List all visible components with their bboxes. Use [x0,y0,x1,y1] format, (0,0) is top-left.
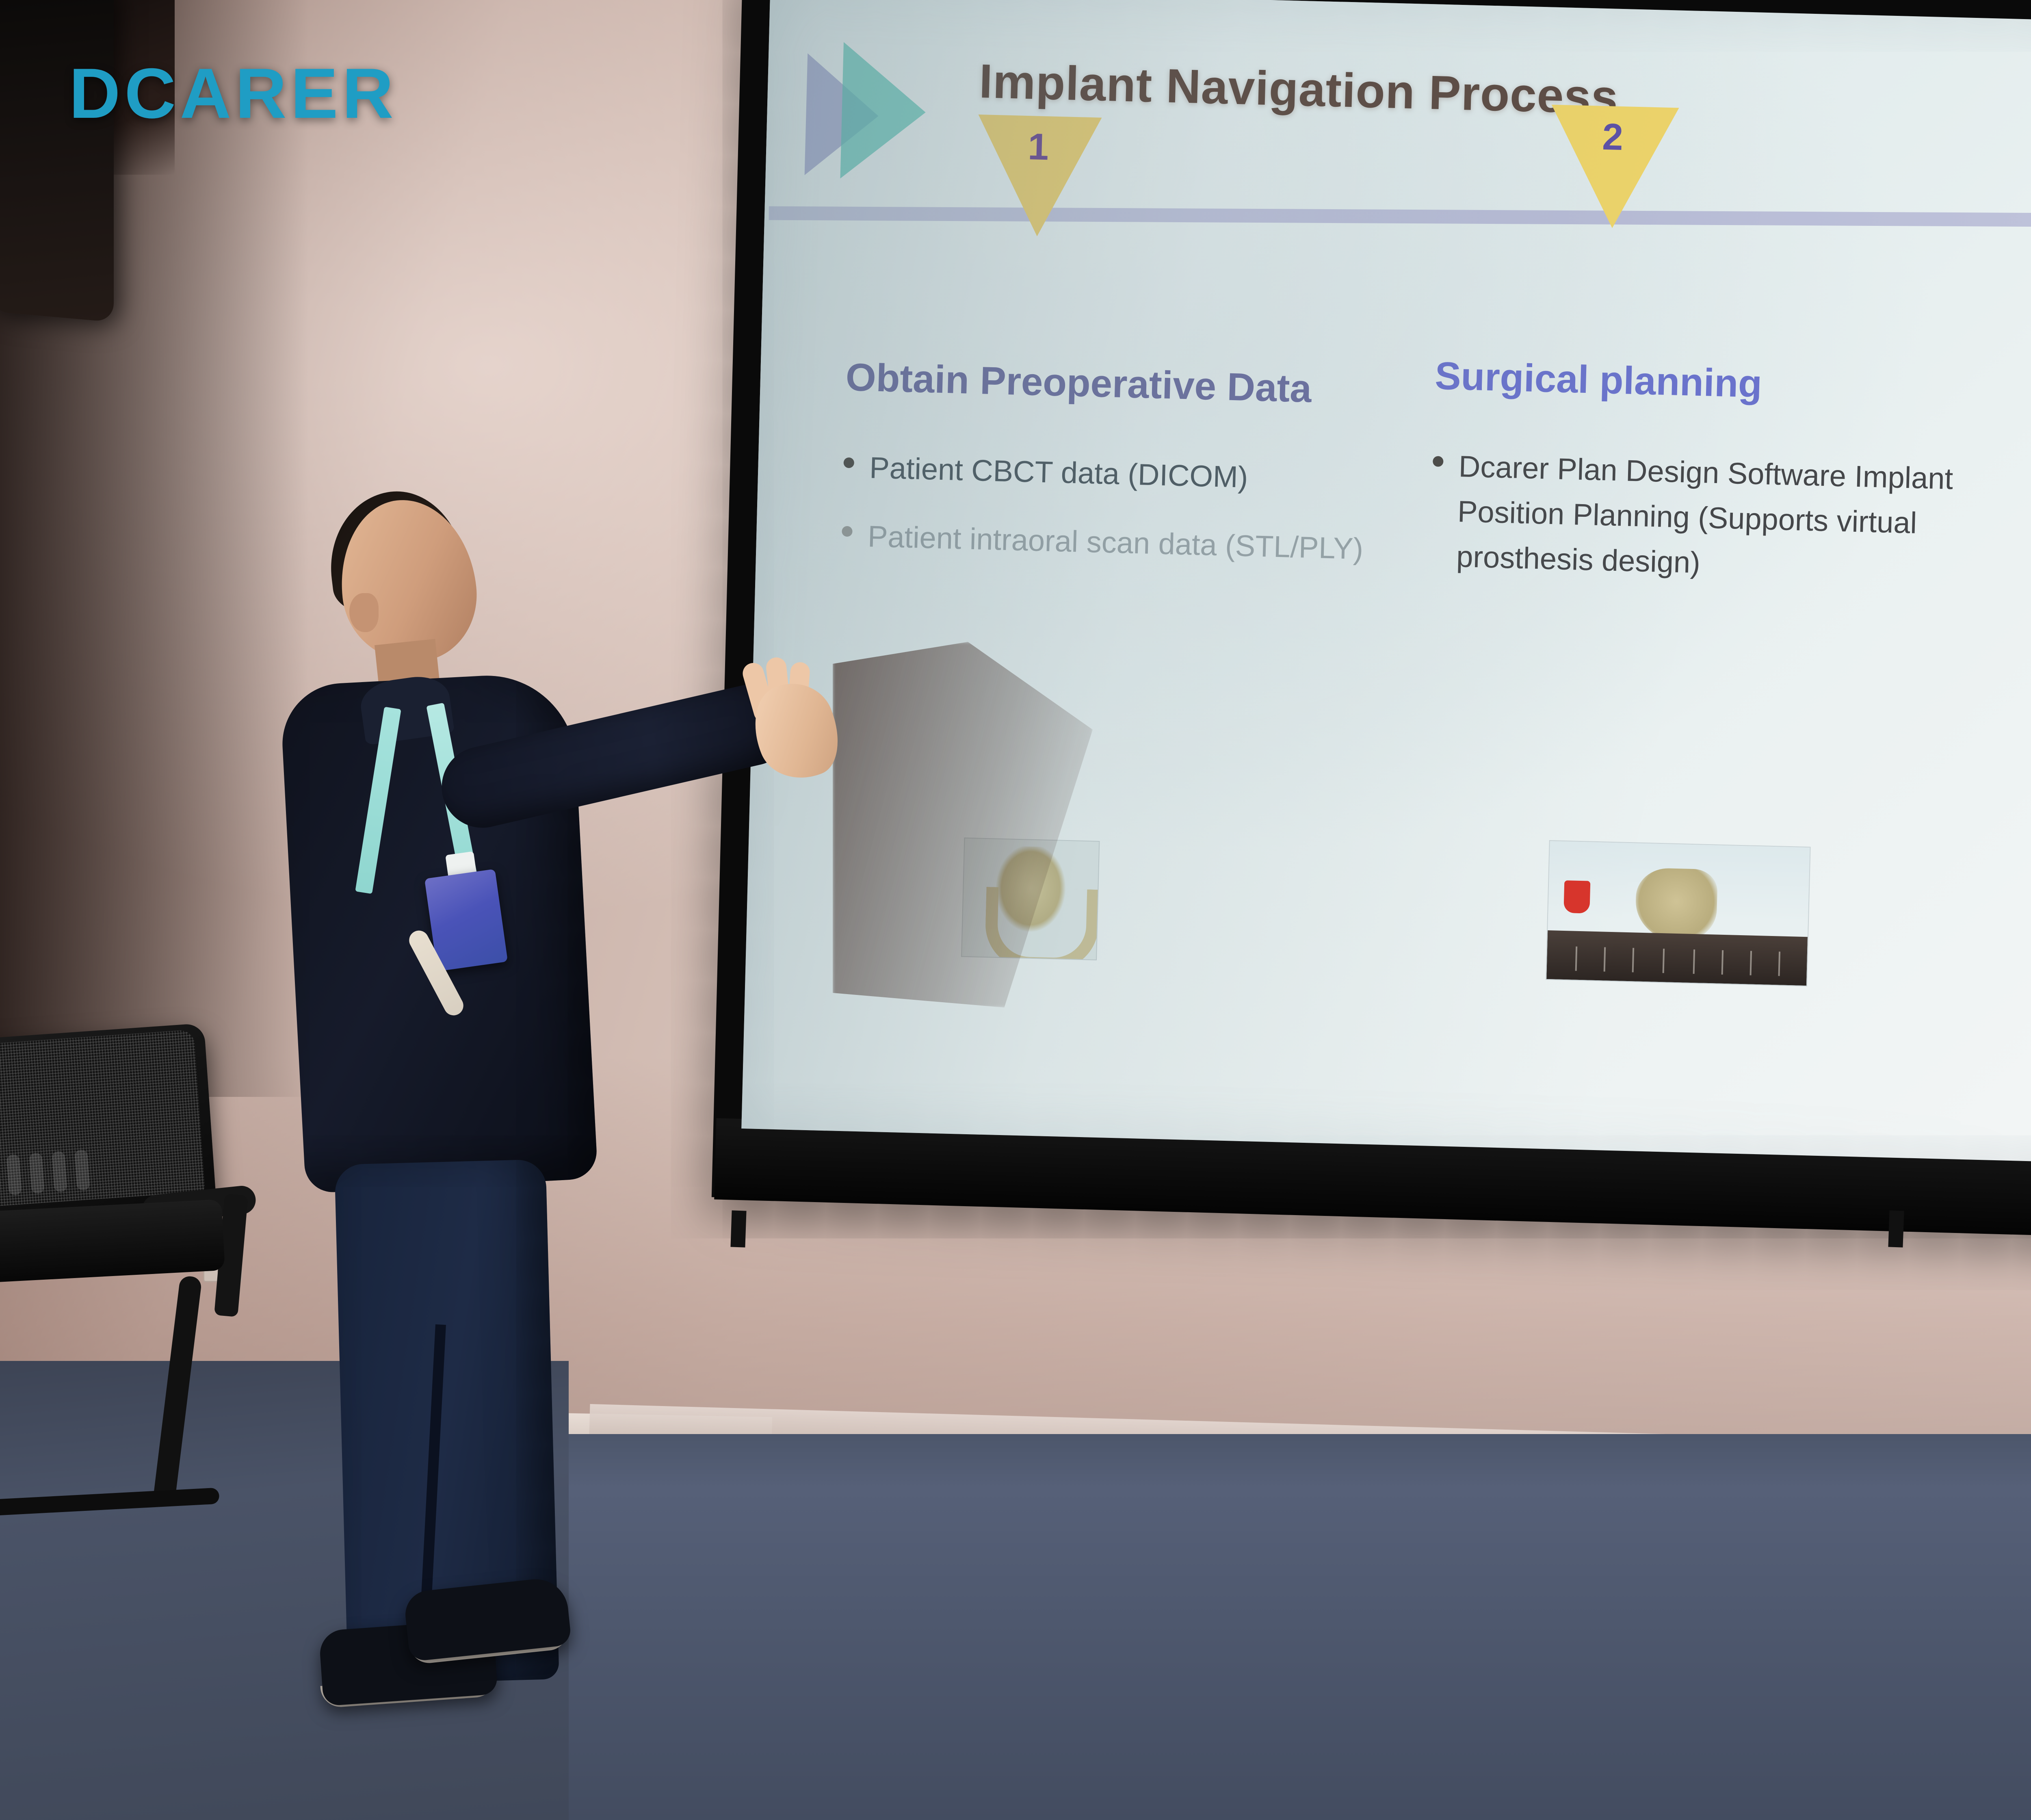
thumbnail-planning-software-screenshot [1546,840,1810,986]
slide-column-2: Surgical planning Dcarer Plan Design Sof… [1429,354,2031,617]
bullet-dot-icon [843,457,854,468]
column-1-bullets: Patient CBCT data (DICOM) Patient intrao… [841,444,1421,573]
column-1-bullet-2: Patient intraoral scan data (STL/PLY) [867,513,1364,571]
decorative-arrow-teal [840,42,927,180]
list-item: Dcarer Plan Design Software Implant Posi… [1430,443,2031,593]
red-tool-icon [1563,880,1590,914]
column-2-bullets: Dcarer Plan Design Software Implant Posi… [1430,443,2031,593]
ct-slice-strip [1546,930,1808,986]
bullet-dot-icon [1433,456,1444,467]
step-number-1: 1 [1027,126,1049,169]
presenter-ear [349,593,379,632]
column-2-heading: Surgical planning [1434,354,2031,414]
chair-seat [0,1199,225,1285]
step-marker-1: 1 [975,115,1102,238]
office-chair [0,1032,260,1584]
chair-base-rail [0,1488,220,1519]
list-item: Patient CBCT data (DICOM) [843,444,1420,504]
presentation-slide: Implant Navigation Process 1 2 3 Obtain … [741,0,2031,1179]
ceiling-projector-unit [0,0,114,322]
bullet-dot-icon [842,526,853,537]
presentation-photo-scene: Implant Navigation Process 1 2 3 Obtain … [0,0,2031,1820]
screen-leg-right [1888,1210,1904,1247]
list-item: Patient intraoral scan data (STL/PLY) [841,513,1419,573]
slide-column-1: Obtain Preoperative Data Patient CBCT da… [840,355,1423,596]
step-number-2: 2 [1602,116,1624,159]
column-2-bullet-1: Dcarer Plan Design Software Implant Posi… [1456,444,2031,594]
presenter [268,487,837,1698]
chair-front-leg [153,1275,202,1504]
dcarer-logo: DCARER [69,53,398,134]
column-1-bullet-1: Patient CBCT data (DICOM) [869,445,1249,500]
step-marker-2: 2 [1548,105,1679,230]
